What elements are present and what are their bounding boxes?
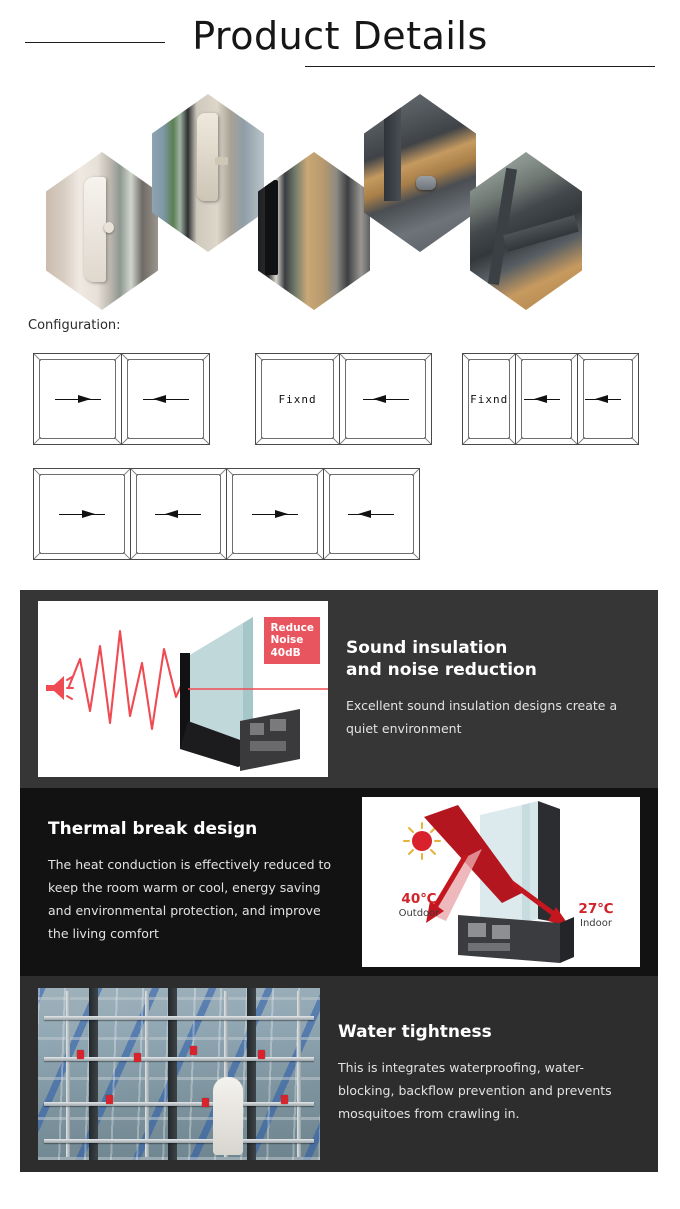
worker-figure [213, 1077, 243, 1155]
header-rule-bottom [305, 66, 655, 67]
feature-sound-insulation: Reduce Noise 40dB Sound insulation and n… [20, 590, 658, 788]
config-diagram-fixed-plus-slider: Fixnd [255, 353, 432, 445]
config-panel [122, 354, 209, 444]
slide-arrow-left-icon [585, 395, 631, 404]
config-diagram-4-panel-slide [33, 468, 420, 560]
product-details-page: Product Details Configuration: [0, 0, 680, 1209]
config-diagram-2-panel-double-slide [33, 353, 210, 445]
page-title: Product Details [0, 14, 680, 58]
configuration-label: Configuration: [28, 318, 121, 333]
slide-arrow-left-icon [363, 395, 409, 404]
slide-arrow-left-icon [155, 510, 201, 519]
gallery-hex-5[interactable] [470, 152, 582, 310]
page-header: Product Details [0, 0, 680, 88]
badge-line-3: 40dB [270, 647, 314, 659]
config-panel [34, 469, 131, 559]
slide-arrow-right-icon [55, 395, 101, 404]
water-spray-test-photo [38, 988, 320, 1160]
outdoor-temp-value: 40℃ [376, 891, 462, 907]
feature-title-line-2: and noise reduction [346, 660, 640, 682]
config-panel [227, 469, 324, 559]
gallery-hex-3[interactable] [258, 152, 370, 310]
reduce-noise-badge: Reduce Noise 40dB [264, 617, 320, 664]
feature-body: Excellent sound insulation designs creat… [346, 694, 640, 740]
badge-line-1: Reduce [270, 622, 314, 634]
feature-title-line-1: Sound insulation [346, 638, 640, 660]
feature-thermal-break: Thermal break design The heat conduction… [20, 788, 658, 976]
fixed-panel-label: Fixnd [278, 393, 316, 406]
slide-arrow-left-icon [143, 395, 189, 404]
window-handle-closeup-image [46, 152, 158, 310]
sliding-track-closeup-image [258, 152, 370, 310]
gallery-hex-4[interactable] [364, 94, 476, 252]
indoor-temperature-label: 27℃ Indoor [558, 901, 634, 929]
feature-title: Sound insulation and noise reduction [346, 638, 640, 682]
feature-water-tightness: Water tightness This is integrates water… [20, 976, 658, 1172]
feature-title: Water tightness [338, 1022, 640, 1044]
water-tightness-text: Water tightness This is integrates water… [320, 976, 658, 1172]
product-photo-gallery [0, 90, 680, 310]
config-panel [340, 354, 431, 444]
thermal-illustration: 40℃ Outdoor 27℃ Indoor [362, 797, 640, 967]
feature-title: Thermal break design [48, 819, 344, 841]
config-panel [516, 354, 577, 444]
slide-arrow-left-icon [524, 395, 570, 404]
feature-body: The heat conduction is effectively reduc… [48, 853, 344, 946]
slide-arrow-left-icon [348, 510, 394, 519]
threshold-roller-closeup-image [364, 94, 476, 252]
heat-reflection-svg [362, 797, 640, 967]
config-panel [578, 354, 638, 444]
feature-section: Reduce Noise 40dB Sound insulation and n… [20, 590, 658, 1172]
config-panel-fixed: Fixnd [463, 354, 516, 444]
sound-insulation-text: Sound insulation and noise reduction Exc… [328, 590, 658, 788]
thermal-break-text: Thermal break design The heat conduction… [20, 788, 362, 976]
indoor-temp-name: Indoor [558, 918, 634, 929]
config-panel [34, 354, 122, 444]
slide-arrow-right-icon [252, 510, 298, 519]
badge-line-2: Noise [270, 634, 314, 646]
slide-arrow-right-icon [59, 510, 105, 519]
frame-corner-closeup-image [470, 152, 582, 310]
door-handle-lock-closeup-image [152, 94, 264, 252]
outdoor-temperature-label: 40℃ Outdoor [376, 891, 462, 919]
config-diagram-fixed-plus-two-sliders: Fixnd [462, 353, 639, 445]
outdoor-temp-name: Outdoor [376, 908, 462, 919]
config-panel [131, 469, 228, 559]
config-panel-fixed: Fixnd [256, 354, 340, 444]
feature-body: This is integrates waterproofing, water-… [338, 1056, 640, 1125]
indoor-temp-value: 27℃ [558, 901, 634, 917]
gallery-hex-2[interactable] [152, 94, 264, 252]
gallery-hex-1[interactable] [46, 152, 158, 310]
fixed-panel-label: Fixnd [470, 393, 508, 406]
config-panel [324, 469, 420, 559]
sound-wave-illustration: Reduce Noise 40dB [38, 601, 328, 777]
